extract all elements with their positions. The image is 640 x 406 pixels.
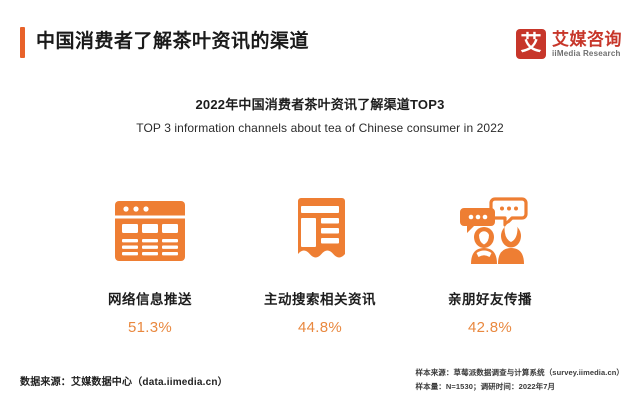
brand-logo: 艾 艾媒咨询 iiMedia Research	[516, 29, 622, 59]
channel-label: 网络信息推送	[108, 290, 192, 309]
page-title: 中国消费者了解茶叶资讯的渠道	[36, 28, 309, 56]
footer-data-source: 数据来源：艾媒数据中心（data.iimedia.cn）	[20, 376, 228, 390]
logo-text-block: 艾媒咨询 iiMedia Research	[552, 30, 622, 59]
slide-header: 中国消费者了解茶叶资讯的渠道 艾 艾媒咨询 iiMedia Research	[0, 0, 640, 76]
logo-name-cn: 艾媒咨询	[552, 30, 622, 49]
channel-item: 主动搜索相关资讯 44.8%	[240, 190, 400, 338]
logo-name-en: iiMedia Research	[552, 49, 622, 59]
footer-sample-info: 样本来源：草莓派数据调查与计算系统（survey.iimedia.cn） 样本量…	[416, 367, 625, 392]
header-accent-bar	[20, 27, 25, 58]
people-chat-icon	[450, 190, 530, 272]
channel-label: 主动搜索相关资讯	[264, 290, 376, 309]
chart-title: 2022年中国消费者茶叶资讯了解渠道TOP3	[0, 96, 640, 114]
logo-mark-icon: 艾	[516, 29, 546, 59]
channel-label: 亲朋好友传播	[448, 290, 532, 309]
chart-subtitle: TOP 3 information channels about tea of …	[0, 120, 640, 137]
channel-item: 网络信息推送 51.3%	[70, 190, 230, 338]
browser-window-icon	[114, 190, 186, 272]
channel-value: 42.8%	[468, 318, 512, 338]
channel-value: 51.3%	[128, 318, 172, 338]
channel-value: 44.8%	[298, 318, 342, 338]
footer-sample-size: 样本量：N=1530；调研时间：2022年7月	[416, 381, 625, 392]
channel-item: 亲朋好友传播 42.8%	[410, 190, 570, 338]
slide-root: 中国消费者了解茶叶资讯的渠道 艾 艾媒咨询 iiMedia Research 2…	[0, 0, 640, 406]
channel-columns: 网络信息推送 51.3%	[70, 190, 570, 338]
footer-sample-source: 样本来源：草莓派数据调查与计算系统（survey.iimedia.cn）	[416, 367, 625, 378]
logo-mark-glyph: 艾	[516, 29, 546, 59]
newspaper-icon	[290, 190, 350, 272]
